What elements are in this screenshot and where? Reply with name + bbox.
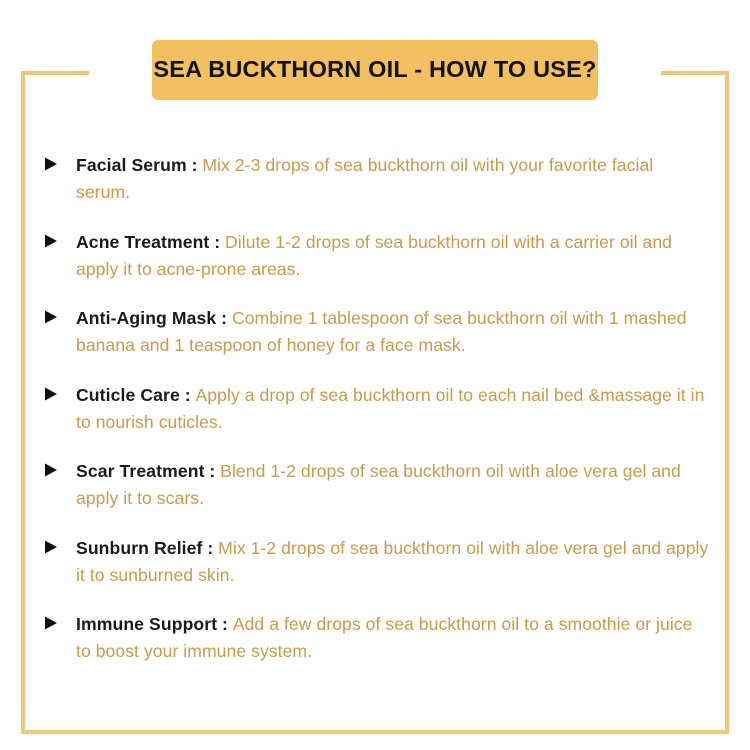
list-item-label: Facial Serum bbox=[76, 155, 187, 175]
list-item-label: Acne Treatment bbox=[76, 232, 209, 252]
list-item: Scar Treatment : Blend 1-2 drops of sea … bbox=[44, 458, 710, 512]
list-item-separator: : bbox=[216, 308, 232, 328]
frame-border-right bbox=[725, 71, 729, 734]
page-title: SEA BUCKTHORN OIL - HOW TO USE? bbox=[153, 58, 596, 82]
list-item-separator: : bbox=[203, 538, 219, 558]
infographic-card: SEA BUCKTHORN OIL - HOW TO USE? Facial S… bbox=[0, 0, 750, 750]
list-item-label: Anti-Aging Mask bbox=[76, 308, 216, 328]
list-item-label: Scar Treatment bbox=[76, 461, 205, 481]
triangle-right-icon bbox=[44, 462, 58, 478]
list-item: Acne Treatment : Dilute 1-2 drops of sea… bbox=[44, 229, 710, 283]
frame-border-top-left bbox=[21, 71, 89, 75]
list-item: Sunburn Relief : Mix 1-2 drops of sea bu… bbox=[44, 535, 710, 589]
list-item-separator: : bbox=[180, 385, 196, 405]
list-item: Immune Support : Add a few drops of sea … bbox=[44, 611, 710, 665]
frame-border-bottom bbox=[21, 730, 729, 734]
list-item: Anti-Aging Mask : Combine 1 tablespoon o… bbox=[44, 305, 710, 359]
triangle-right-icon bbox=[44, 309, 58, 325]
list-item-label: Sunburn Relief bbox=[76, 538, 203, 558]
triangle-right-icon bbox=[44, 539, 58, 555]
list-item-separator: : bbox=[187, 155, 203, 175]
triangle-right-icon bbox=[44, 386, 58, 402]
list-item-label: Cuticle Care bbox=[76, 385, 180, 405]
frame-border-top-right bbox=[661, 71, 729, 75]
list-item: Cuticle Care : Apply a drop of sea buckt… bbox=[44, 382, 710, 436]
triangle-right-icon bbox=[44, 615, 58, 631]
usage-list: Facial Serum : Mix 2-3 drops of sea buck… bbox=[44, 152, 710, 665]
list-item-separator: : bbox=[217, 614, 233, 634]
list-item-label: Immune Support bbox=[76, 614, 217, 634]
list-item-separator: : bbox=[205, 461, 221, 481]
list-item: Facial Serum : Mix 2-3 drops of sea buck… bbox=[44, 152, 710, 206]
frame-border-left bbox=[21, 71, 25, 734]
title-badge: SEA BUCKTHORN OIL - HOW TO USE? bbox=[152, 40, 598, 100]
triangle-right-icon bbox=[44, 156, 58, 172]
triangle-right-icon bbox=[44, 233, 58, 249]
list-item-separator: : bbox=[209, 232, 225, 252]
